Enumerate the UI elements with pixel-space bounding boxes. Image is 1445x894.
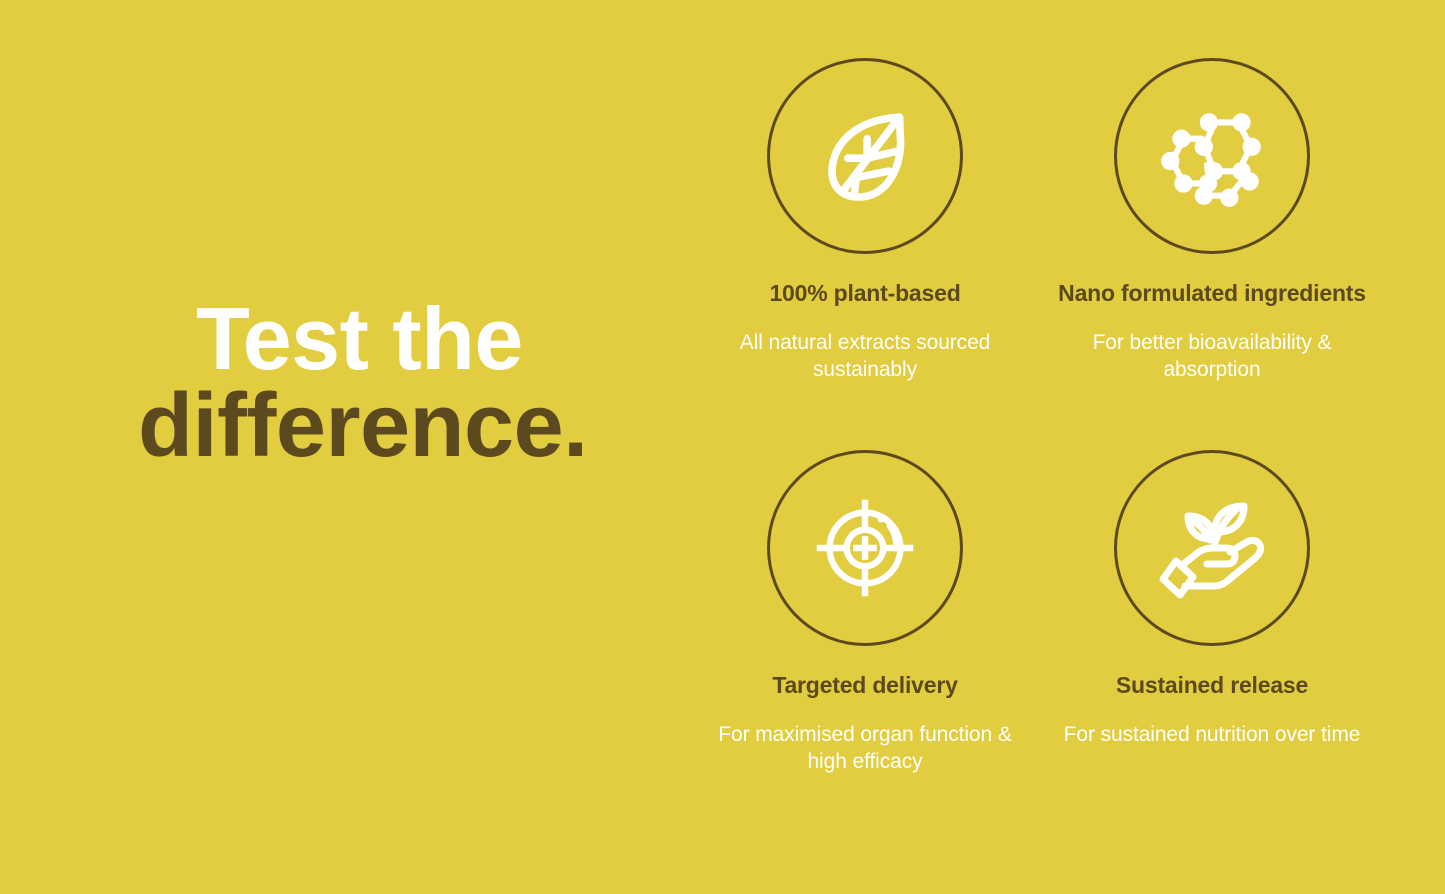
feature-icon-circle [1114, 58, 1310, 254]
headline-line-1: Test the [138, 296, 758, 382]
feature-card-targeted-delivery: Targeted delivery For maximised organ fu… [690, 450, 1040, 776]
leaf-icon [811, 102, 919, 210]
crosshair-target-icon [806, 489, 924, 607]
feature-description: For better bioavailability & absorption [1043, 330, 1381, 384]
feature-title: 100% plant-based [750, 278, 980, 308]
molecule-icon [1156, 100, 1268, 212]
feature-card-plant-based: 100% plant-based All natural extracts so… [690, 58, 1040, 384]
feature-icon-circle [1114, 450, 1310, 646]
feature-title: Targeted delivery [696, 670, 1034, 700]
feature-card-sustained-release: Sustained release For sustained nutritio… [1037, 450, 1387, 749]
feature-description: For sustained nutrition over time [1043, 722, 1381, 749]
page-title: Test the difference. [138, 296, 758, 470]
feature-icon-circle [767, 450, 963, 646]
promo-banner: Test the difference. 100 [0, 0, 1445, 894]
feature-icon-circle [767, 58, 963, 254]
hand-sprout-icon [1152, 488, 1272, 608]
feature-description: For maximised organ function & high effi… [696, 722, 1034, 776]
feature-title: Nano formulated ingredients [1043, 278, 1381, 308]
headline-line-2: difference. [138, 382, 758, 470]
feature-card-nano-formulated: Nano formulated ingredients For better b… [1037, 58, 1387, 384]
feature-description: All natural extracts sourced sustainably [696, 330, 1034, 384]
feature-grid: 100% plant-based All natural extracts so… [690, 58, 1390, 818]
feature-title: Sustained release [1043, 670, 1381, 700]
